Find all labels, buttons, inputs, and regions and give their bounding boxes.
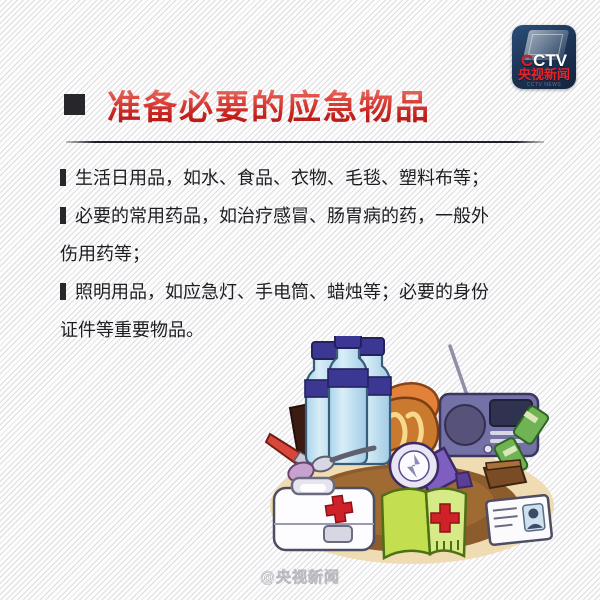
page-title-row: 准备必要的应急物品 <box>64 84 431 124</box>
list-bullet-icon <box>60 207 66 224</box>
list-item-label: 生活日用品，如水、食品、衣物、毛毯、塑料布等； <box>75 168 489 189</box>
poster-canvas: CCTV 央视新闻 CCTV NEWS 准备必要的应急物品 准备必要的应急物品 … <box>0 0 600 600</box>
logo-chinese-text: 央视新闻 <box>512 69 576 83</box>
logo-latin-text: CCTV <box>512 52 576 69</box>
cctv-news-logo: CCTV 央视新闻 CCTV NEWS <box>512 25 576 89</box>
watermark: @央视新闻 <box>0 566 600 587</box>
id-card-icon <box>486 495 552 545</box>
list-item-label: 必要的常用药品，如治疗感冒、肠胃病的药，一般外 <box>75 206 489 227</box>
logo-sub-text: CCTV NEWS <box>512 82 576 88</box>
list-item-label: 照明用品，如应急灯、手电筒、蜡烛等；必要的身份 <box>75 282 489 303</box>
title-bullet-square-icon <box>64 94 85 115</box>
list-item: 生活日用品，如水、食品、衣物、毛毯、塑料布等； <box>60 160 555 198</box>
supplies-list: 生活日用品，如水、食品、衣物、毛毯、塑料布等； 必要的常用药品，如治疗感冒、肠胃… <box>60 160 555 350</box>
first-aid-kit-icon <box>274 478 374 550</box>
list-item-label: 伤用药等； <box>60 244 150 265</box>
page-title: 准备必要的应急物品 <box>107 80 431 129</box>
list-item-label: 证件等重要物品。 <box>60 320 204 341</box>
title-divider <box>66 141 544 143</box>
list-item: 必要的常用药品，如治疗感冒、肠胃病的药，一般外 <box>60 198 555 236</box>
list-bullet-icon <box>60 169 66 186</box>
first-aid-book-icon <box>382 488 466 558</box>
wallet-icon <box>484 460 526 488</box>
emergency-supplies-illustration <box>262 336 562 572</box>
list-item-continuation: 伤用药等； <box>60 236 555 274</box>
list-item: 照明用品，如应急灯、手电筒、蜡烛等；必要的身份 <box>60 274 555 312</box>
list-bullet-icon <box>60 283 66 300</box>
